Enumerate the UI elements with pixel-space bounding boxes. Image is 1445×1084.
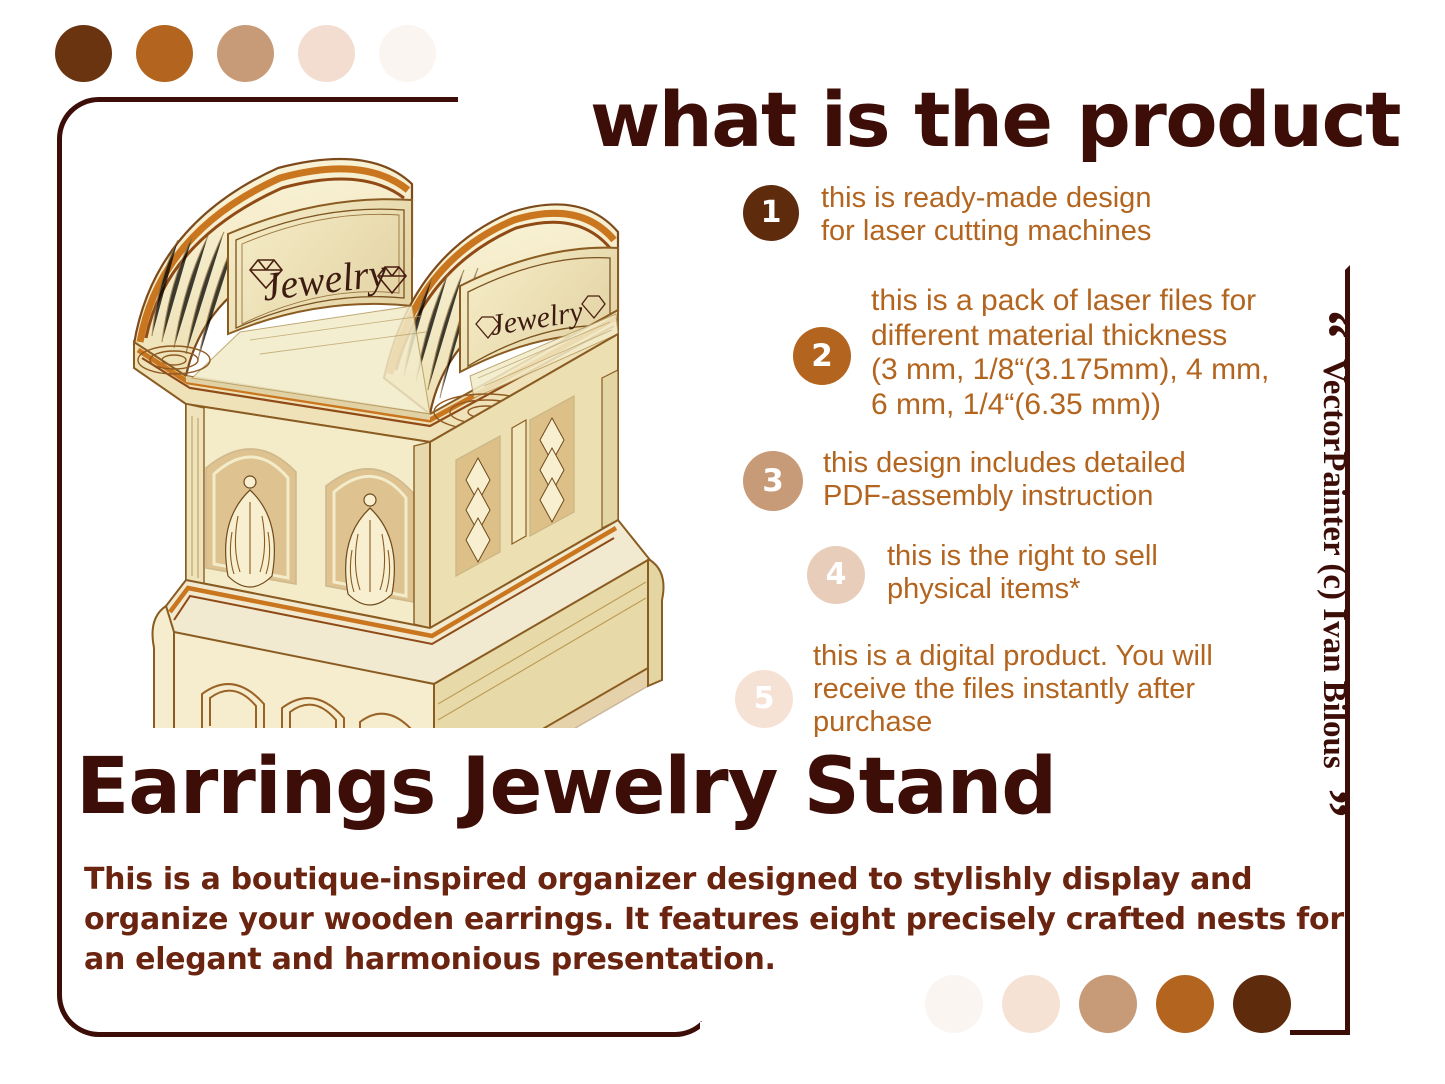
feature-number-badge: 5 [735,670,793,728]
color-palette-top [55,25,436,82]
frame-gap-bottom [700,1022,740,1048]
palette-swatch [925,975,983,1033]
color-palette-bottom [925,975,1291,1033]
feature-item-1: 1 this is ready-made design for laser cu… [743,185,1151,248]
palette-swatch [379,25,436,82]
product-illustration: Jewelry Jewelry [82,128,682,728]
feature-number-badge: 3 [743,451,803,511]
product-description: This is a boutique-inspired organizer de… [84,860,1356,980]
feature-item-3: 3 this design includes detailed PDF-asse… [743,447,1186,513]
open-quote-icon: “ [1316,310,1339,339]
feature-list: 1 this is ready-made design for laser cu… [735,185,1355,765]
palette-swatch [1233,975,1291,1033]
feature-text: this is ready-made design for laser cutt… [821,182,1151,248]
palette-swatch [298,25,355,82]
feature-text: this is a digital product. You will rece… [813,640,1213,739]
palette-swatch [55,25,112,82]
feature-number-badge: 4 [807,546,865,604]
feature-text: this is the right to sell physical items… [887,540,1158,606]
palette-swatch [1079,975,1137,1033]
close-quote-icon: ” [1316,789,1339,818]
feature-text: this design includes detailed PDF-assemb… [823,447,1186,513]
feature-number-badge: 2 [793,327,851,385]
watermark-text: VectorPainter (c) Ivan Bilous [1315,359,1352,769]
palette-swatch [217,25,274,82]
feature-item-5: 5 this is a digital product. You will re… [735,640,1213,739]
product-title: Earrings Jewelry Stand [76,748,1056,826]
feature-item-4: 4 this is the right to sell physical ite… [807,540,1158,606]
palette-swatch [1002,975,1060,1033]
palette-swatch [136,25,193,82]
feature-text: this is a pack of laser files for differ… [871,284,1269,422]
infographic-page: what is the product [0,0,1445,1084]
feature-item-2: 2 this is a pack of laser files for diff… [793,285,1269,422]
palette-swatch [1156,975,1214,1033]
feature-number-badge: 1 [743,185,799,241]
